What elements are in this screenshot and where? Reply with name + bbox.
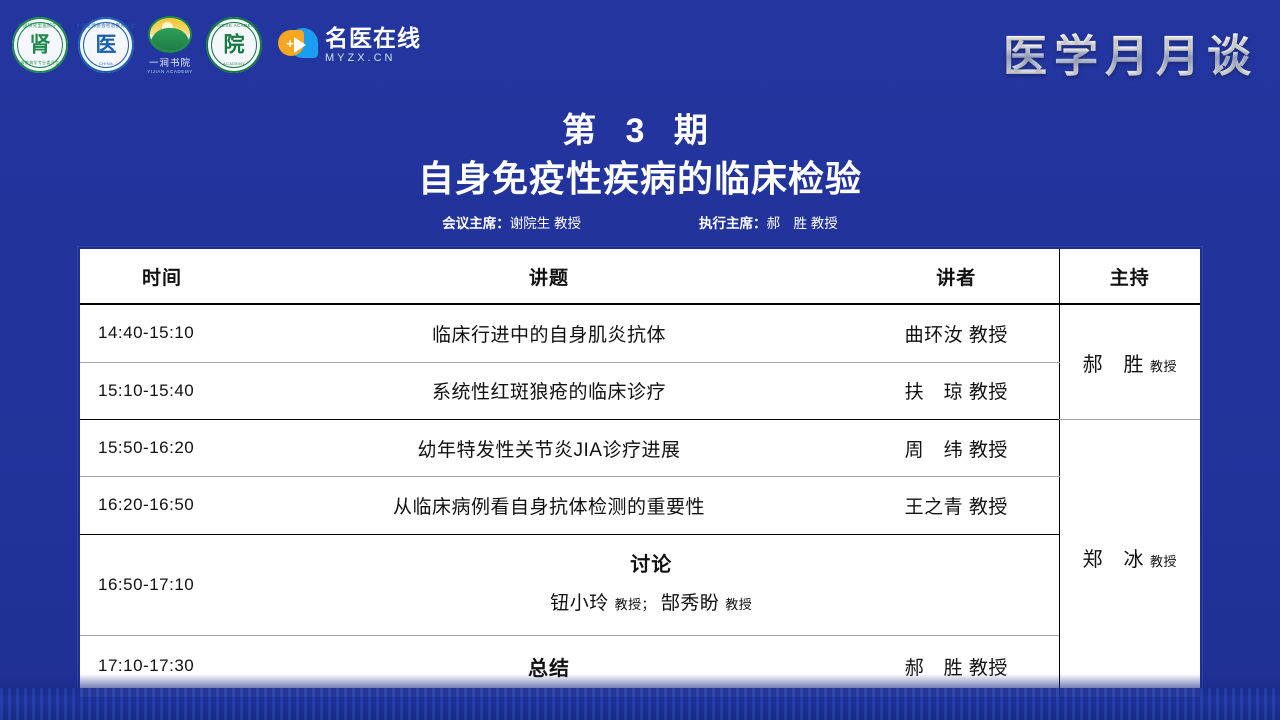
executive-chair-label: 执行主席： xyxy=(699,216,767,231)
cell-topic: 从临床病例看自身抗体检测的重要性 xyxy=(244,477,854,534)
cell-time: 16:20-16:50 xyxy=(80,477,244,534)
seal-arc-text: 中国医师协会检验医师分会 xyxy=(77,23,136,29)
nephrology-society-seal-icon: 中国研究型医院学会 肾 肾脏病学专业委员会 xyxy=(12,17,68,73)
cell-time: 14:40-15:10 xyxy=(80,304,244,362)
page-title: 自身免疫性疾病的临床检验 xyxy=(0,150,1280,202)
program-brand-title: 医学月月谈 xyxy=(1003,20,1258,84)
meeting-chair-name: 谢院生 教授 xyxy=(510,216,581,231)
cell-speaker: 曲环汝 教授 xyxy=(854,304,1059,362)
myzx-name-en: MYZX.CN xyxy=(325,53,421,64)
column-header-speaker: 讲者 xyxy=(854,249,1059,304)
bottom-stripe-band xyxy=(0,688,1280,720)
host-title: 教授 xyxy=(1150,554,1177,569)
column-header-topic: 讲题 xyxy=(244,249,854,304)
chair-line: 会议主席：谢院生 教授 执行主席：郝 胜 教授 xyxy=(0,212,1280,232)
yiqing-academy-badge-icon: 一涧书院 YIJIAN ACADEMY xyxy=(144,16,196,74)
table-row: 15:10-15:40 系统性红斑狼疮的临床诊疗 扶 琼 教授 xyxy=(80,362,1200,419)
panelist-1-title: 教授； xyxy=(615,597,656,612)
academy-name-en: YIJIAN ACADEMY xyxy=(147,69,193,74)
seal-arc-bottom-text: ACADEMY xyxy=(223,61,245,66)
academy-name-cn: 一涧书院 xyxy=(149,55,191,69)
panelist-1-name: 钮小玲 xyxy=(550,593,609,614)
academy-green-seal-icon: CHINESE ACADEMY 院 ACADEMY xyxy=(206,17,262,73)
executive-chair-name: 郝 胜 教授 xyxy=(767,216,838,231)
table-row-discussion: 16:50-17:10 讨论 钮小玲 教授； 郜秀盼 教授 xyxy=(80,534,1200,636)
cell-host-2: 郑 冰 教授 xyxy=(1059,419,1200,696)
cell-time: 15:50-16:20 xyxy=(80,419,244,476)
medical-association-seal-icon: 中国医师协会检验医师分会 医 CHINA xyxy=(78,17,134,73)
cell-topic: 幼年特发性关节炎JIA诊疗进展 xyxy=(244,419,854,476)
myzx-play-bubble-icon: + xyxy=(278,26,318,64)
panelist-2-title: 教授 xyxy=(725,597,752,612)
seal-arc-bottom-text: 肾脏病学专业委员会 xyxy=(21,60,60,66)
cell-time: 15:10-15:40 xyxy=(80,362,244,419)
discussion-panelists: 钮小玲 教授； 郜秀盼 教授 xyxy=(244,594,1059,615)
host-name: 郝 胜 xyxy=(1082,354,1144,376)
meeting-chair: 会议主席：谢院生 教授 xyxy=(442,212,581,232)
host-title: 教授 xyxy=(1150,359,1177,374)
cell-time: 16:50-17:10 xyxy=(80,534,244,636)
cell-topic: 临床行进中的自身肌炎抗体 xyxy=(244,304,854,362)
slide-header: 中国研究型医院学会 肾 肾脏病学专业委员会 中国医师协会检验医师分会 医 CHI… xyxy=(0,0,1280,92)
table-row: 14:40-15:10 临床行进中的自身肌炎抗体 曲环汝 教授 郝 胜 教授 xyxy=(80,304,1200,362)
cell-speaker: 周 纬 教授 xyxy=(854,419,1059,476)
discussion-title: 讨论 xyxy=(244,554,1059,576)
panelist-2-name: 郜秀盼 xyxy=(661,593,720,614)
myzx-name-cn: 名医在线 xyxy=(325,27,421,50)
bottom-gradient xyxy=(0,674,1280,688)
meeting-chair-label: 会议主席： xyxy=(442,216,510,231)
agenda-table: 时间 讲题 讲者 主持 14:40-15:10 临床行进中的自身肌炎抗体 曲环汝… xyxy=(80,249,1200,697)
agenda-table-container: 时间 讲题 讲者 主持 14:40-15:10 临床行进中的自身肌炎抗体 曲环汝… xyxy=(78,247,1202,699)
host-name: 郑 冰 xyxy=(1082,549,1144,571)
seal-center-glyph: 医 xyxy=(96,35,117,56)
cell-discussion: 讨论 钮小玲 教授； 郜秀盼 教授 xyxy=(244,534,1059,636)
cell-topic: 系统性红斑狼疮的临床诊疗 xyxy=(244,362,854,419)
cell-host-1: 郝 胜 教授 xyxy=(1059,304,1200,419)
myzx-logo[interactable]: + 名医在线 MYZX.CN xyxy=(278,26,421,64)
issue-number: 第 3 期 xyxy=(0,103,1280,152)
table-row: 16:20-16:50 从临床病例看自身抗体检测的重要性 王之青 教授 xyxy=(80,477,1200,534)
partner-logo-row: 中国研究型医院学会 肾 肾脏病学专业委员会 中国医师协会检验医师分会 医 CHI… xyxy=(12,16,421,74)
table-row: 15:50-16:20 幼年特发性关节炎JIA诊疗进展 周 纬 教授 郑 冰 教… xyxy=(80,419,1200,476)
seal-arc-text: CHINESE ACADEMY xyxy=(209,23,258,28)
seal-arc-text: 中国研究型医院学会 xyxy=(18,23,62,29)
cell-speaker: 王之青 教授 xyxy=(854,477,1059,534)
table-header-row: 时间 讲题 讲者 主持 xyxy=(80,249,1200,304)
column-header-time: 时间 xyxy=(80,249,244,304)
executive-chair: 执行主席：郝 胜 教授 xyxy=(699,212,838,232)
seal-center-glyph: 肾 xyxy=(30,35,51,56)
seal-center-glyph: 院 xyxy=(224,35,245,56)
seal-arc-bottom-text: CHINA xyxy=(99,61,113,66)
cell-speaker: 扶 琼 教授 xyxy=(854,362,1059,419)
column-header-host: 主持 xyxy=(1059,249,1200,304)
